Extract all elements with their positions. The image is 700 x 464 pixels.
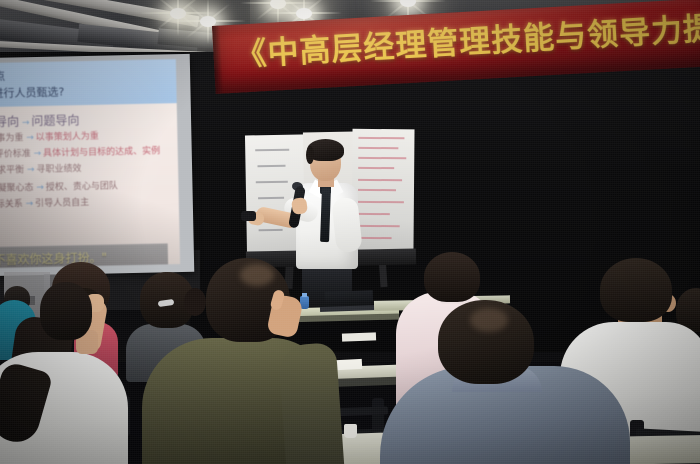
spotlight-icon <box>398 0 418 8</box>
slide-row-right: 以事策划人为重 <box>36 132 99 143</box>
slide-row: 因人设事为重 → 以事策划人为重 <box>0 129 99 145</box>
slide-row: 追求平衡 → 寻职业绩效 <box>0 161 82 176</box>
slide-row-left: 追求平衡 <box>0 165 24 176</box>
slide-row-right: 引导人员自主 <box>35 198 89 209</box>
slide-header-line-2: 为何进行人员甄选? <box>0 83 64 101</box>
slide-row-left: 强化人际关系 <box>0 199 23 210</box>
slide-row-right: 授权、责心与团队 <box>46 181 118 193</box>
paper-cup <box>344 424 357 438</box>
slide-header-band: 主要点 为何进行人员甄选? <box>0 59 177 107</box>
arrow-icon: → <box>26 133 33 143</box>
presenter-left-arm <box>331 197 363 253</box>
slide-surface: 主要点 为何进行人员甄选? 人员导向 → 问题导向 因人设事为重 → 以事策划人… <box>0 59 180 268</box>
attendee-man-white-polo-head <box>600 258 672 322</box>
slide-row: 强化人际关系 → 引导人员自主 <box>0 195 89 211</box>
attendee-man-olive-shirt-hair-highlight <box>240 264 274 286</box>
attendee-woman-white-shirt-head <box>40 282 92 340</box>
attendee-man-olive-shirt-arm <box>278 342 345 464</box>
attendee-man-blue-gray-shirt-hair-highlight <box>470 308 508 332</box>
seminar-photo-scene: 《中高层经理管理技能与领导力提升》 主要点 为何进行人员甄选? 人员导向 → 问… <box>0 0 700 464</box>
bottle-cap <box>302 293 307 297</box>
slide-row-right: 具体计划与目标的达成、实例 <box>43 146 160 158</box>
arrow-icon: → <box>22 118 29 128</box>
attendee-man-pink-shirt-head <box>424 252 480 302</box>
slide-row: 人员导向 → 问题导向 <box>0 111 80 130</box>
presenter-necktie <box>320 188 331 242</box>
slide-header-line-1: 主要点 <box>0 68 5 85</box>
slide-row-left: 以员工凝聚心态 <box>0 183 34 194</box>
spotlight-icon <box>294 6 314 20</box>
arrow-icon: → <box>36 183 43 193</box>
paper-sheet <box>342 332 376 341</box>
attendee-gray-top-hair-bun <box>184 288 206 316</box>
spotlight-icon <box>268 0 288 10</box>
slide-row: 以员工凝聚心态 → 授权、责心与团队 <box>0 178 118 194</box>
slide-row-right: 问题导向 <box>31 113 79 128</box>
slide-row: 以人为评价标准 → 具体计划与目标的达成、实例 <box>0 143 160 160</box>
presenter-hair-side <box>306 146 314 164</box>
projection-screen: 主要点 为何进行人员甄选? 人员导向 → 问题导向 因人设事为重 → 以事策划人… <box>0 54 194 276</box>
spotlight-icon <box>168 6 188 20</box>
slide-row-left: 因人设事为重 <box>0 133 24 144</box>
slide-row-right: 寻职业绩效 <box>36 164 81 175</box>
arrow-icon: → <box>26 199 33 209</box>
arrow-icon: → <box>34 149 41 159</box>
slide-row-left: 人员导向 <box>0 114 19 129</box>
slide-body: 人员导向 → 问题导向 因人设事为重 → 以事策划人为重 以人为评价标准 → 具… <box>0 103 180 268</box>
presentation-clicker-icon <box>241 211 256 221</box>
arrow-icon: → <box>27 165 34 175</box>
slide-row-left: 以人为评价标准 <box>0 149 31 160</box>
